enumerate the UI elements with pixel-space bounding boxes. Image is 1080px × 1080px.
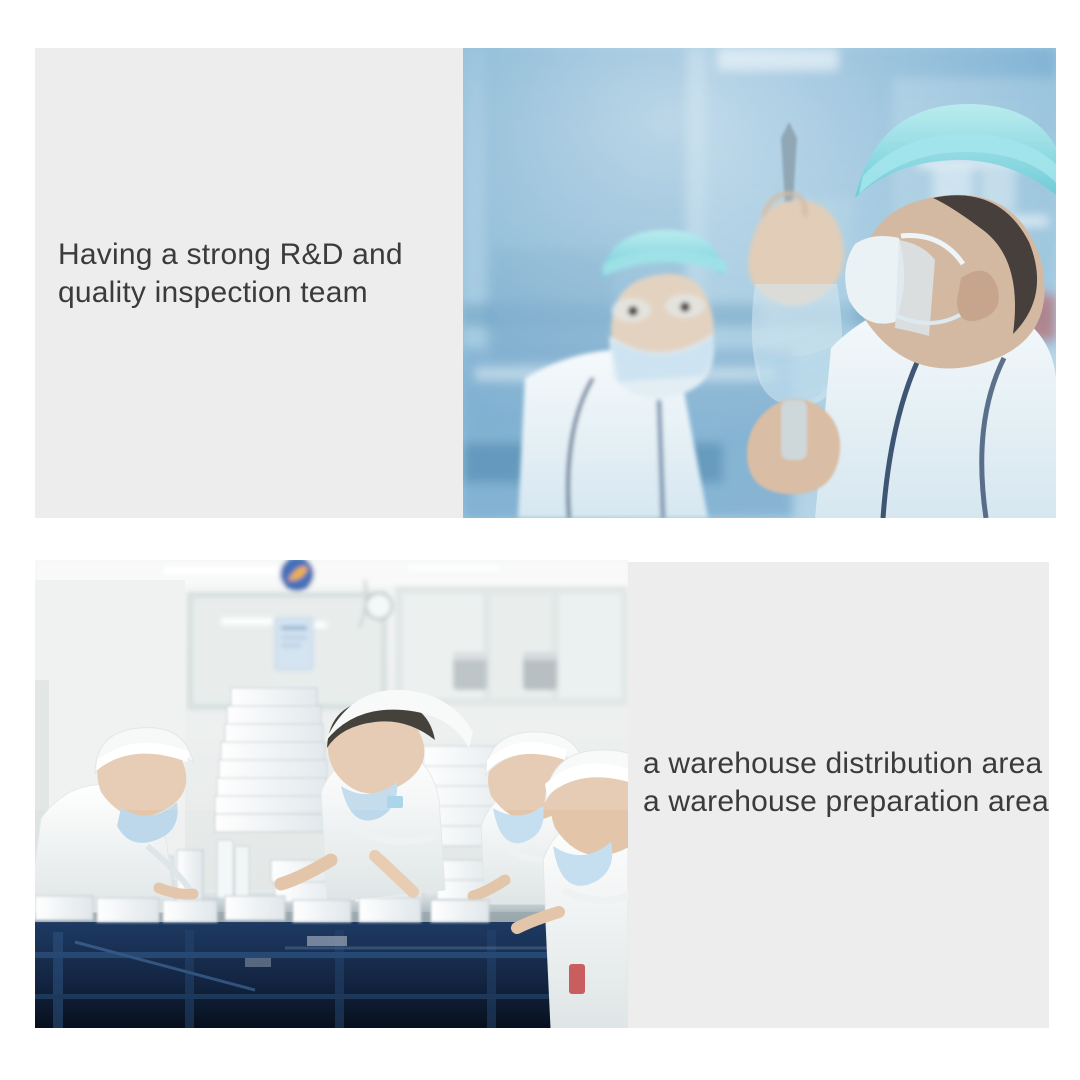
section-warehouse: a warehouse distribution area a warehous… [35, 560, 1049, 1028]
warehouse-packing-photo [35, 560, 628, 1028]
caption-text-warehouse: a warehouse distribution area a warehous… [643, 745, 1063, 821]
lab-quality-inspection-photo [463, 48, 1056, 518]
slide-canvas: Having a strong R&D and quality inspecti… [0, 0, 1080, 1080]
caption-text-rnd-quality: Having a strong R&D and quality inspecti… [58, 236, 458, 312]
section-rnd-quality: Having a strong R&D and quality inspecti… [35, 48, 1056, 518]
